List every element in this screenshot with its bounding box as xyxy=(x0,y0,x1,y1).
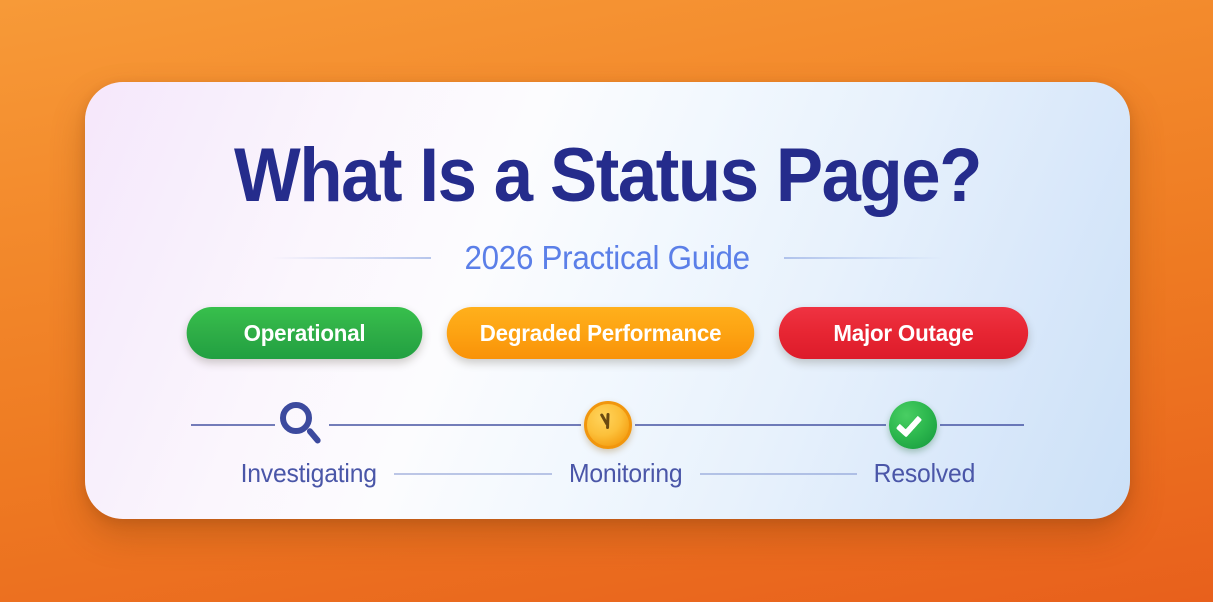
timeline-node-resolved[interactable] xyxy=(886,398,940,452)
page-subtitle: 2026 Practical Guide xyxy=(465,239,750,277)
timeline-segment-2 xyxy=(635,424,887,426)
subtitle-row: 2026 Practical Guide xyxy=(85,239,1130,277)
magnifier-icon xyxy=(279,402,325,448)
timeline-track xyxy=(191,415,1024,435)
page-title: What Is a Status Page? xyxy=(122,138,1094,214)
status-pill-label: Degraded Performance xyxy=(480,320,722,347)
check-circle-icon xyxy=(889,401,937,449)
timeline-node-investigating[interactable] xyxy=(275,398,329,452)
status-pill-degraded-performance[interactable]: Degraded Performance xyxy=(447,307,755,359)
status-pill-label: Major Outage xyxy=(833,320,973,347)
timeline-label-rule-1 xyxy=(394,473,552,475)
incident-timeline: Investigating Monitoring Resolved xyxy=(191,400,1024,500)
timeline-label-rule-2 xyxy=(700,473,858,475)
status-pill-major-outage[interactable]: Major Outage xyxy=(779,307,1028,359)
title-block: What Is a Status Page? xyxy=(85,138,1130,214)
hero-card: What Is a Status Page? 2026 Practical Gu… xyxy=(85,82,1130,519)
status-pill-label: Operational xyxy=(244,320,366,347)
timeline-node-monitoring[interactable] xyxy=(581,398,635,452)
timeline-segment-end xyxy=(940,424,1024,426)
timeline-label-resolved: Resolved xyxy=(874,458,975,489)
status-pill-group: Operational Degraded Performance Major O… xyxy=(85,307,1130,359)
subtitle-rule-right xyxy=(784,257,944,259)
status-pill-operational[interactable]: Operational xyxy=(187,307,423,359)
clock-icon xyxy=(584,401,632,449)
timeline-segment-start xyxy=(191,424,275,426)
timeline-label-investigating: Investigating xyxy=(241,458,377,489)
timeline-segment-1 xyxy=(329,424,581,426)
subtitle-rule-left xyxy=(271,257,431,259)
timeline-label-row: Investigating Monitoring Resolved xyxy=(191,458,1024,489)
timeline-label-monitoring: Monitoring xyxy=(569,458,682,489)
